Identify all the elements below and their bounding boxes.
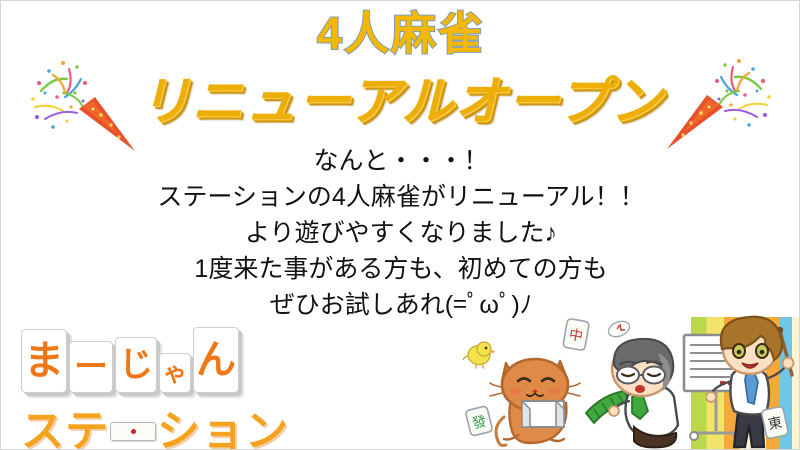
logo-station-prefix: ステ — [21, 408, 109, 450]
body-line-3: より遊びやすくなりました♪ — [1, 215, 800, 251]
green-mahjong-tile-wall — [586, 391, 630, 423]
logo-station-text: ステション — [21, 397, 289, 450]
cat-papers — [522, 401, 564, 427]
body-copy: なんと・・・！ ステーションの4人麻雀がリニューアル！！ より遊びやすくなりまし… — [1, 143, 800, 323]
brand-logo: ま ー じ ゃ ん ステション — [15, 327, 265, 447]
illustration-cluster: 發 中 — [456, 309, 800, 450]
body-line-1: なんと・・・！ — [1, 143, 800, 179]
logo-station-suffix: ション — [157, 408, 289, 450]
logo-station-tile-dash — [110, 422, 156, 441]
logo-tile-ya: ゃ — [159, 353, 191, 393]
logo-tile-ma: ま — [21, 329, 67, 393]
logo-tile-dash: ー — [69, 341, 113, 393]
poster-canvas: 4人麻雀 リニューアルオープン なんと・・・！ ステーションの4人麻雀がリニュー… — [0, 0, 800, 450]
page-title: 4人麻雀 — [1, 9, 800, 59]
mahjong-tile-ton: 東 — [759, 405, 791, 441]
body-line-2: ステーションの4人麻雀がリニューアル！！ — [1, 179, 800, 215]
logo-tile-n: ん — [193, 327, 239, 393]
logo-tile-ji: じ — [115, 337, 157, 393]
cat-character — [488, 343, 592, 449]
subtitle-renewal-open: リニューアルオープン — [1, 73, 800, 131]
body-line-4: 1度来た事がある方も、初めての方も — [1, 251, 800, 287]
